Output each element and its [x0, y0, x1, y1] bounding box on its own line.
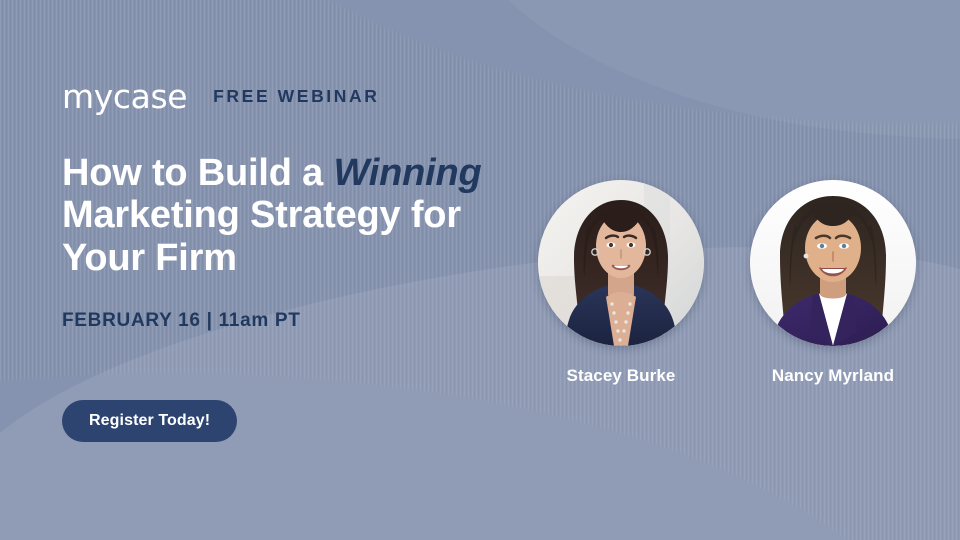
register-today-button[interactable]: Register Today!: [62, 400, 237, 442]
mycase-logo: mycase: [62, 80, 187, 113]
speakers-list: Stacey Burke: [538, 180, 916, 386]
list-item: Nancy Myrland: [750, 180, 916, 386]
webinar-promo-banner: mycase FREE WEBINAR How to Build a Winni…: [0, 0, 960, 540]
speaker-name: Stacey Burke: [567, 366, 676, 386]
headline-line2: Marketing Strategy for: [62, 194, 461, 236]
page-title: How to Build a WinningMarketing Strategy…: [62, 152, 532, 279]
headline-line3: Your Firm: [62, 237, 237, 279]
headline-line1-prefix: How to Build a: [62, 152, 333, 194]
headline-accent-word: Winning: [333, 152, 481, 194]
avatar: [538, 180, 704, 346]
speaker-name: Nancy Myrland: [772, 366, 894, 386]
avatar: [750, 180, 916, 346]
speaker-portrait-photo: [538, 180, 704, 346]
speaker-portrait-photo: [750, 180, 916, 346]
brand-row: mycase FREE WEBINAR: [62, 80, 379, 113]
free-webinar-eyebrow: FREE WEBINAR: [213, 88, 379, 106]
webinar-datetime: FEBRUARY 16 | 11am PT: [62, 310, 301, 332]
list-item: Stacey Burke: [538, 180, 704, 386]
